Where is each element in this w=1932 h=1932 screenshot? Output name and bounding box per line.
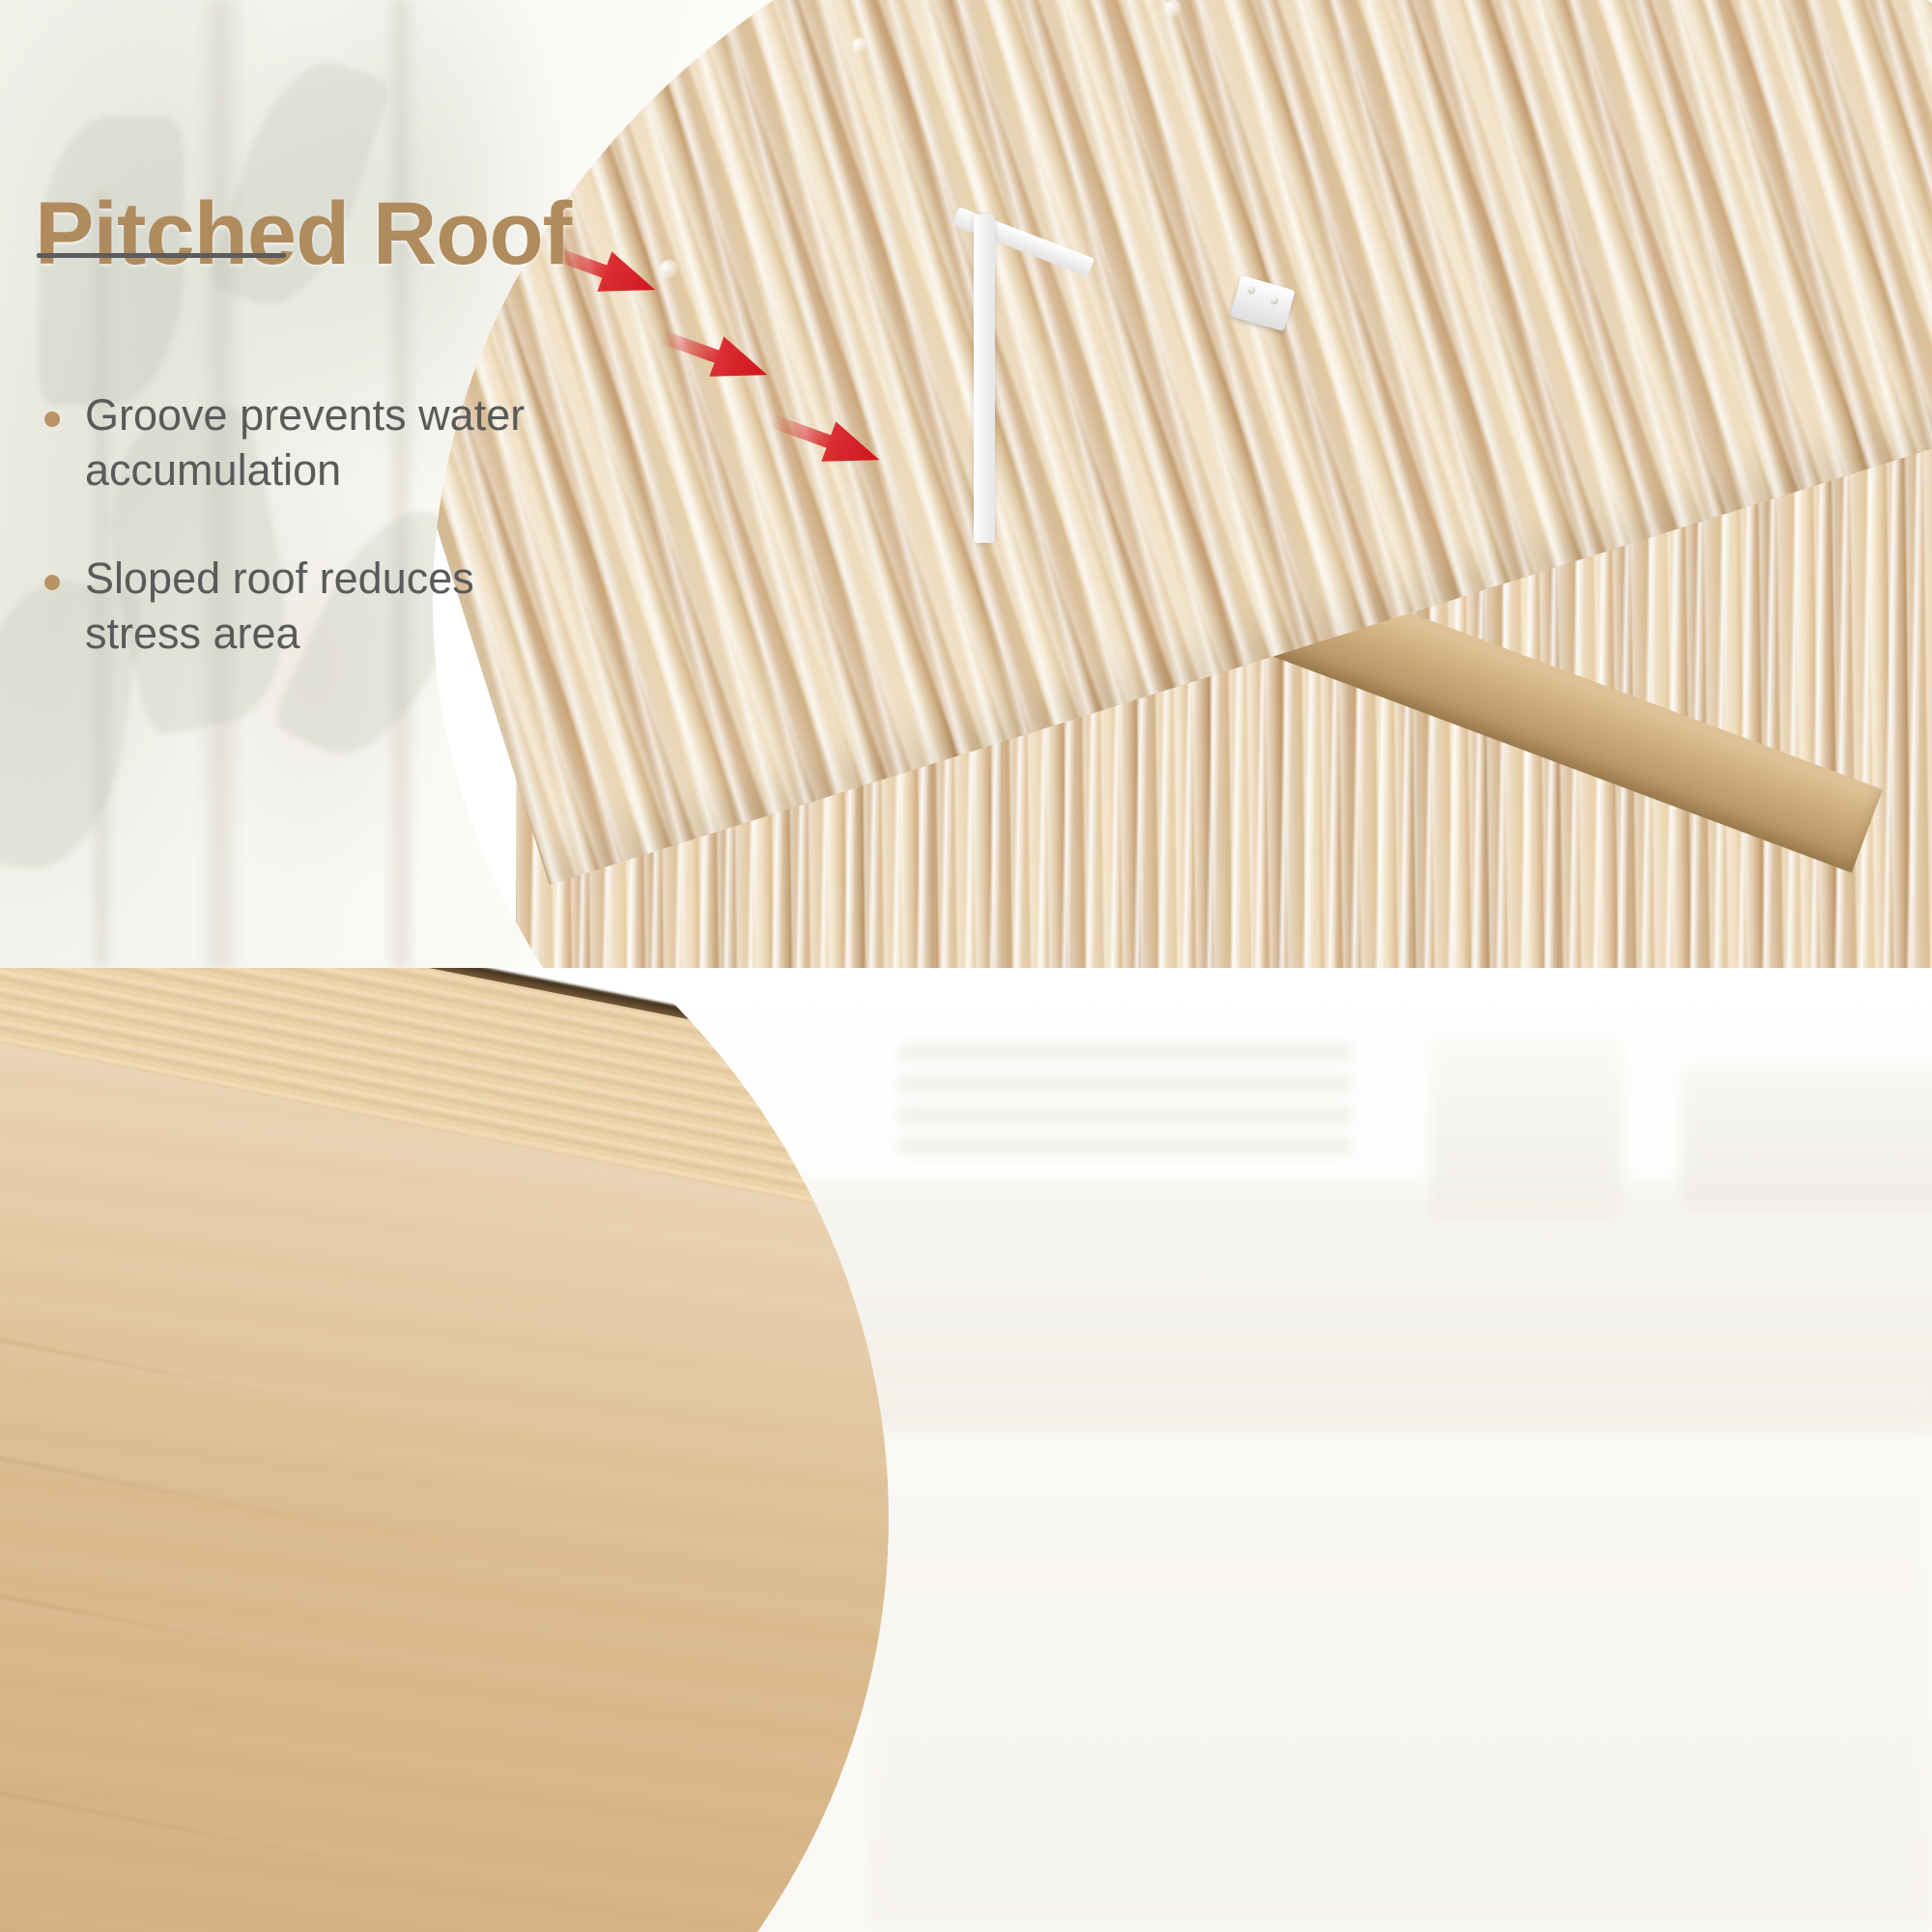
list-item-label: Groove prevents water accumulation [85,388,566,497]
feature-list-pitched-roof: Groove prevents water accumulation Slope… [44,388,566,716]
infographic-canvas: Pitched Roof Groove prevents water accum… [0,0,1932,1932]
shutter-vent-photo [0,968,889,1932]
pitched-roof-photo [433,0,1932,968]
bullet-dot-icon [44,575,60,590]
panel-shutter-vents: 4 Shutter Vents Promote the exchange of … [0,968,1932,1932]
page-title-pitched-roof: Pitched Roof [35,184,571,285]
panel-pitched-roof: Pitched Roof Groove prevents water accum… [0,0,1932,968]
title-underline-rule [37,253,286,258]
list-item-label: Sloped roof reduces stress area [85,552,566,661]
door-frame-post [974,214,995,543]
list-item: Groove prevents water accumulation [44,388,566,497]
list-item: Sloped roof reduces stress area [44,552,566,661]
bullet-dot-icon [44,412,60,427]
